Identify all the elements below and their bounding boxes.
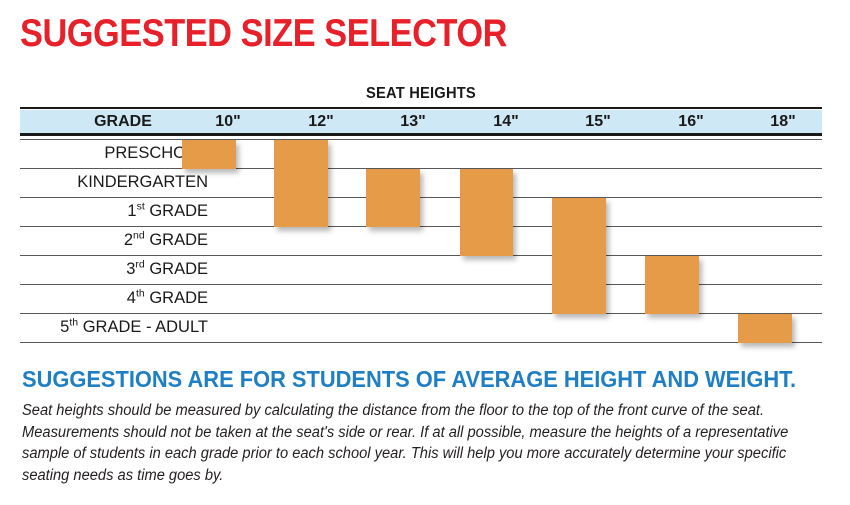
column-header-15in: 15" xyxy=(552,111,644,132)
column-header-12in: 12" xyxy=(275,111,367,132)
table-bottom-rule xyxy=(20,342,822,343)
column-header-14in: 14" xyxy=(460,111,552,132)
table-row: 1st GRADE xyxy=(20,197,822,226)
table-body: PRESCHOOL KINDERGARTEN 1st GRADE xyxy=(20,139,822,345)
row-label-text: GRADE - ADULT xyxy=(78,318,208,336)
row-label-ordinal: 3 xyxy=(126,260,135,278)
table-row: KINDERGARTEN xyxy=(20,168,822,197)
bar-16in xyxy=(645,256,699,314)
bar-13in xyxy=(366,169,420,227)
row-label-text: KINDERGARTEN xyxy=(77,173,208,191)
table-header-bottom-rule xyxy=(20,133,822,136)
row-label-ordinal: 1 xyxy=(127,202,136,220)
page-title: SUGGESTED SIZE SELECTOR xyxy=(20,12,507,56)
row-label-text: GRADE xyxy=(145,202,208,220)
bar-12in xyxy=(274,140,328,227)
footer-line-1: Seat heights should be measured by calcu… xyxy=(22,400,790,422)
table-row: 4th GRADE xyxy=(20,284,822,313)
footer-line-2: Measurements should not be taken at the … xyxy=(22,422,790,444)
suggested-size-selector-infographic: SUGGESTED SIZE SELECTOR SEAT HEIGHTS GRA… xyxy=(0,0,850,505)
footer-heading: SUGGESTIONS ARE FOR STUDENTS OF AVERAGE … xyxy=(22,366,796,393)
row-label-grade-1: 1st GRADE xyxy=(20,197,208,225)
row-label-kindergarten: KINDERGARTEN xyxy=(20,168,208,196)
row-label-text: GRADE xyxy=(145,231,208,249)
row-label-text: GRADE xyxy=(145,289,208,307)
bar-18in xyxy=(738,314,792,343)
row-label-ordinal: 2 xyxy=(124,231,133,249)
row-label-grade-3: 3rd GRADE xyxy=(20,255,208,283)
seat-heights-caption: SEAT HEIGHTS xyxy=(52,85,790,103)
row-label-ordinal-suffix: th xyxy=(136,288,145,300)
row-label-preschool: PRESCHOOL xyxy=(20,139,208,167)
table-row: 3rd GRADE xyxy=(20,255,822,284)
table-top-rule xyxy=(20,107,822,109)
size-selector-table: GRADE 10" 12" 13" 14" 15" 16" 18" PRESCH… xyxy=(20,107,822,347)
table-row: PRESCHOOL xyxy=(20,139,822,168)
row-label-ordinal-suffix: th xyxy=(69,317,78,329)
row-label-ordinal-suffix: rd xyxy=(135,259,144,271)
row-label-ordinal: 4 xyxy=(127,289,136,307)
row-label-ordinal: 5 xyxy=(60,318,69,336)
bar-14in xyxy=(460,169,513,256)
row-label-grade-2: 2nd GRADE xyxy=(20,226,208,254)
bar-15in xyxy=(552,198,606,314)
row-label-text: GRADE xyxy=(145,260,208,278)
row-label-grade-5-adult: 5th GRADE - ADULT xyxy=(20,313,208,341)
column-header-10in: 10" xyxy=(182,111,274,132)
bar-10in xyxy=(182,140,236,169)
column-header-13in: 13" xyxy=(367,111,459,132)
table-row: 5th GRADE - ADULT xyxy=(20,313,822,342)
table-row: 2nd GRADE xyxy=(20,226,822,255)
footer-line-3: sample of students in each grade prior t… xyxy=(22,443,790,465)
footer-paragraph: Seat heights should be measured by calcu… xyxy=(22,400,790,486)
column-header-18in: 18" xyxy=(737,111,829,132)
column-header-16in: 16" xyxy=(645,111,737,132)
row-label-ordinal-suffix: st xyxy=(137,201,145,213)
row-label-ordinal-suffix: nd xyxy=(133,230,145,242)
row-label-grade-4: 4th GRADE xyxy=(20,284,208,312)
footer-line-4: seating needs as time goes by. xyxy=(22,465,790,487)
